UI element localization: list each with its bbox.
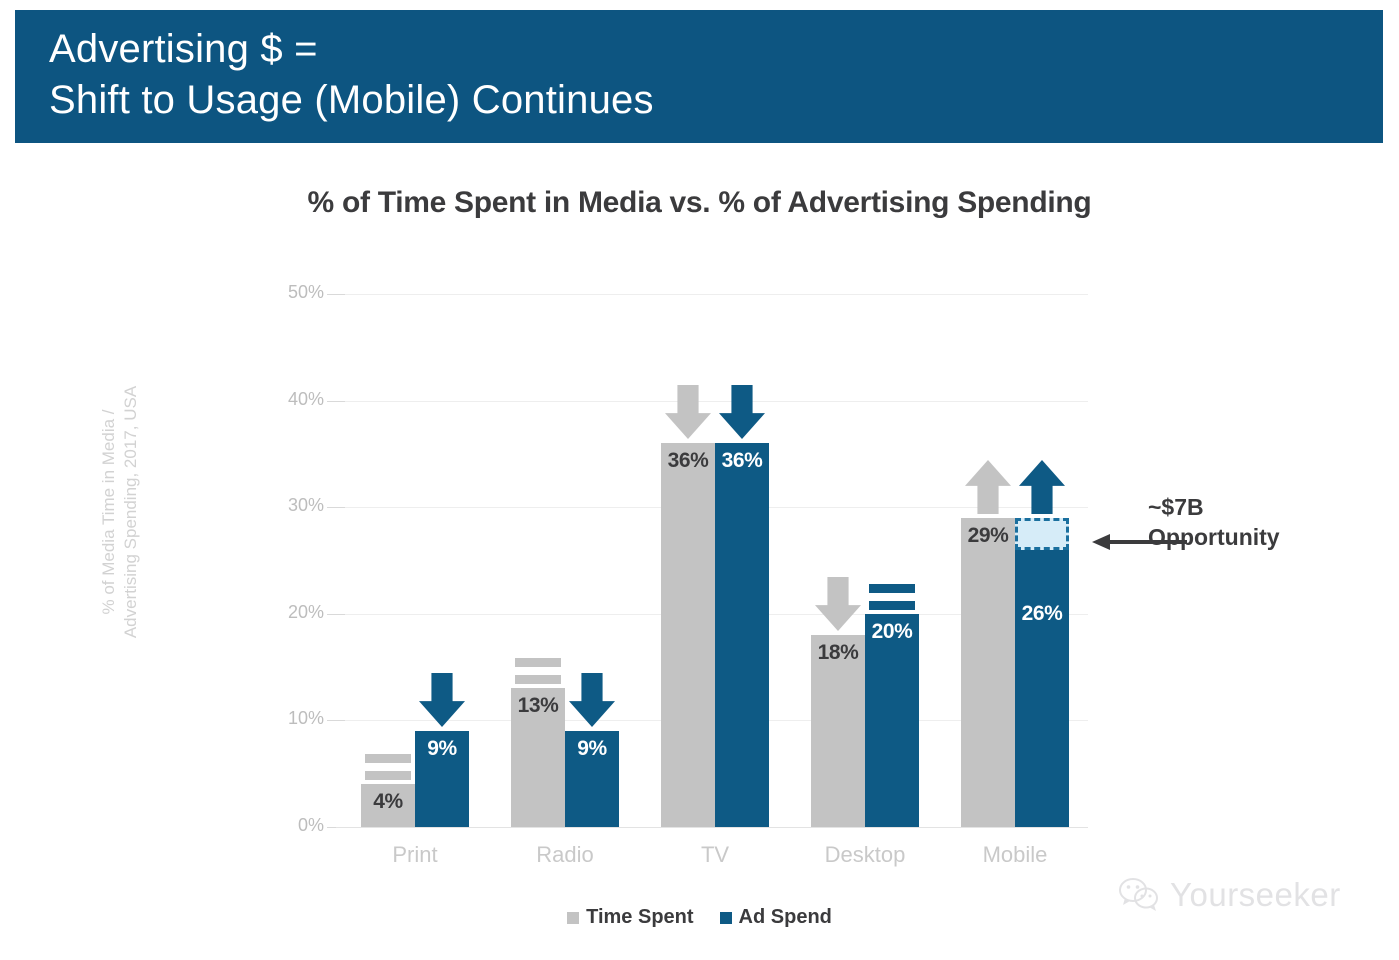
y-axis-tick: [327, 614, 345, 615]
bar-value-label: 36%: [715, 449, 769, 473]
trend-equal-icon: [365, 754, 411, 780]
legend-swatch-icon: [720, 912, 732, 924]
arrow-glyph: [569, 673, 615, 727]
legend-label: Ad Spend: [739, 906, 832, 929]
x-axis-label-tv: TV: [635, 842, 795, 868]
legend-item-ad-spend[interactable]: Ad Spend: [720, 906, 832, 929]
bar-value-label: 13%: [511, 694, 565, 718]
trend-down-arrow-icon: [569, 673, 615, 727]
bar-value-label: 4%: [361, 790, 415, 814]
bar-value-label: 29%: [961, 524, 1015, 548]
trend-down-arrow-icon: [419, 673, 465, 727]
arrow-glyph: [719, 385, 765, 439]
gridline: [336, 401, 1088, 402]
bar-mobile-time-spent[interactable]: [961, 518, 1015, 827]
y-axis-title-line-1: % of Media Time in Media /: [98, 332, 120, 692]
trend-down-arrow-icon: [815, 577, 861, 631]
trend-equal-icon: [515, 658, 561, 684]
bar-tv-ad-spend[interactable]: [715, 443, 769, 827]
opportunity-highlight-box: [1015, 518, 1069, 550]
bar-value-label: 9%: [565, 737, 619, 761]
bar-value-label: 9%: [415, 737, 469, 761]
y-axis-tick-label: 20%: [264, 602, 324, 623]
bar-mobile-ad-spend[interactable]: [1015, 550, 1069, 827]
legend-item-time-spent[interactable]: Time Spent: [567, 906, 693, 929]
legend-swatch-icon: [567, 912, 579, 924]
watermark-text: Yourseeker: [1170, 876, 1341, 914]
x-axis-label-radio: Radio: [485, 842, 645, 868]
x-axis-label-desktop: Desktop: [785, 842, 945, 868]
bar-value-label: 20%: [865, 620, 919, 644]
chart: % of Time Spent in Media vs. % of Advert…: [0, 0, 1399, 960]
y-axis-tick: [327, 294, 345, 295]
y-axis-title: % of Media Time in Media / Advertising S…: [98, 332, 142, 692]
bar-value-label: 36%: [661, 449, 715, 473]
bar-value-label: 26%: [1015, 602, 1069, 626]
y-axis-tick-label: 10%: [264, 708, 324, 729]
y-axis-tick-label: 30%: [264, 495, 324, 516]
opportunity-annotation-amount: ~$7B: [1148, 492, 1280, 522]
trend-equal-icon: [869, 584, 915, 610]
arrow-glyph: [965, 460, 1011, 514]
trend-up-arrow-icon: [1019, 460, 1065, 514]
y-axis-tick: [327, 720, 345, 721]
trend-up-arrow-icon: [965, 460, 1011, 514]
legend-label: Time Spent: [586, 906, 693, 929]
opportunity-annotation-label: Opportunity: [1148, 522, 1280, 552]
arrow-glyph: [419, 673, 465, 727]
wechat-icon: [1118, 877, 1160, 913]
opportunity-annotation: ~$7B Opportunity: [1148, 492, 1280, 552]
arrow-glyph: [1019, 460, 1065, 514]
trend-down-arrow-icon: [719, 385, 765, 439]
y-axis-tick: [327, 401, 345, 402]
y-axis-tick-label: 0%: [264, 815, 324, 836]
trend-down-arrow-icon: [665, 385, 711, 439]
x-axis-baseline: [336, 827, 1088, 828]
x-axis-label-print: Print: [335, 842, 495, 868]
arrow-glyph: [815, 577, 861, 631]
slide-root: Advertising $ = Shift to Usage (Mobile) …: [0, 0, 1399, 960]
y-axis-title-line-2: Advertising Spending, 2017, USA: [120, 332, 142, 692]
bar-tv-time-spent[interactable]: [661, 443, 715, 827]
chart-title: % of Time Spent in Media vs. % of Advert…: [0, 186, 1399, 220]
y-axis-tick-label: 40%: [264, 389, 324, 410]
arrow-glyph: [665, 385, 711, 439]
gridline: [336, 294, 1088, 295]
watermark: Yourseeker: [1118, 876, 1341, 914]
bar-desktop-ad-spend[interactable]: [865, 614, 919, 827]
y-axis-tick: [327, 507, 345, 508]
x-axis-label-mobile: Mobile: [935, 842, 1095, 868]
bar-value-label: 18%: [811, 641, 865, 665]
y-axis-tick-label: 50%: [264, 282, 324, 303]
